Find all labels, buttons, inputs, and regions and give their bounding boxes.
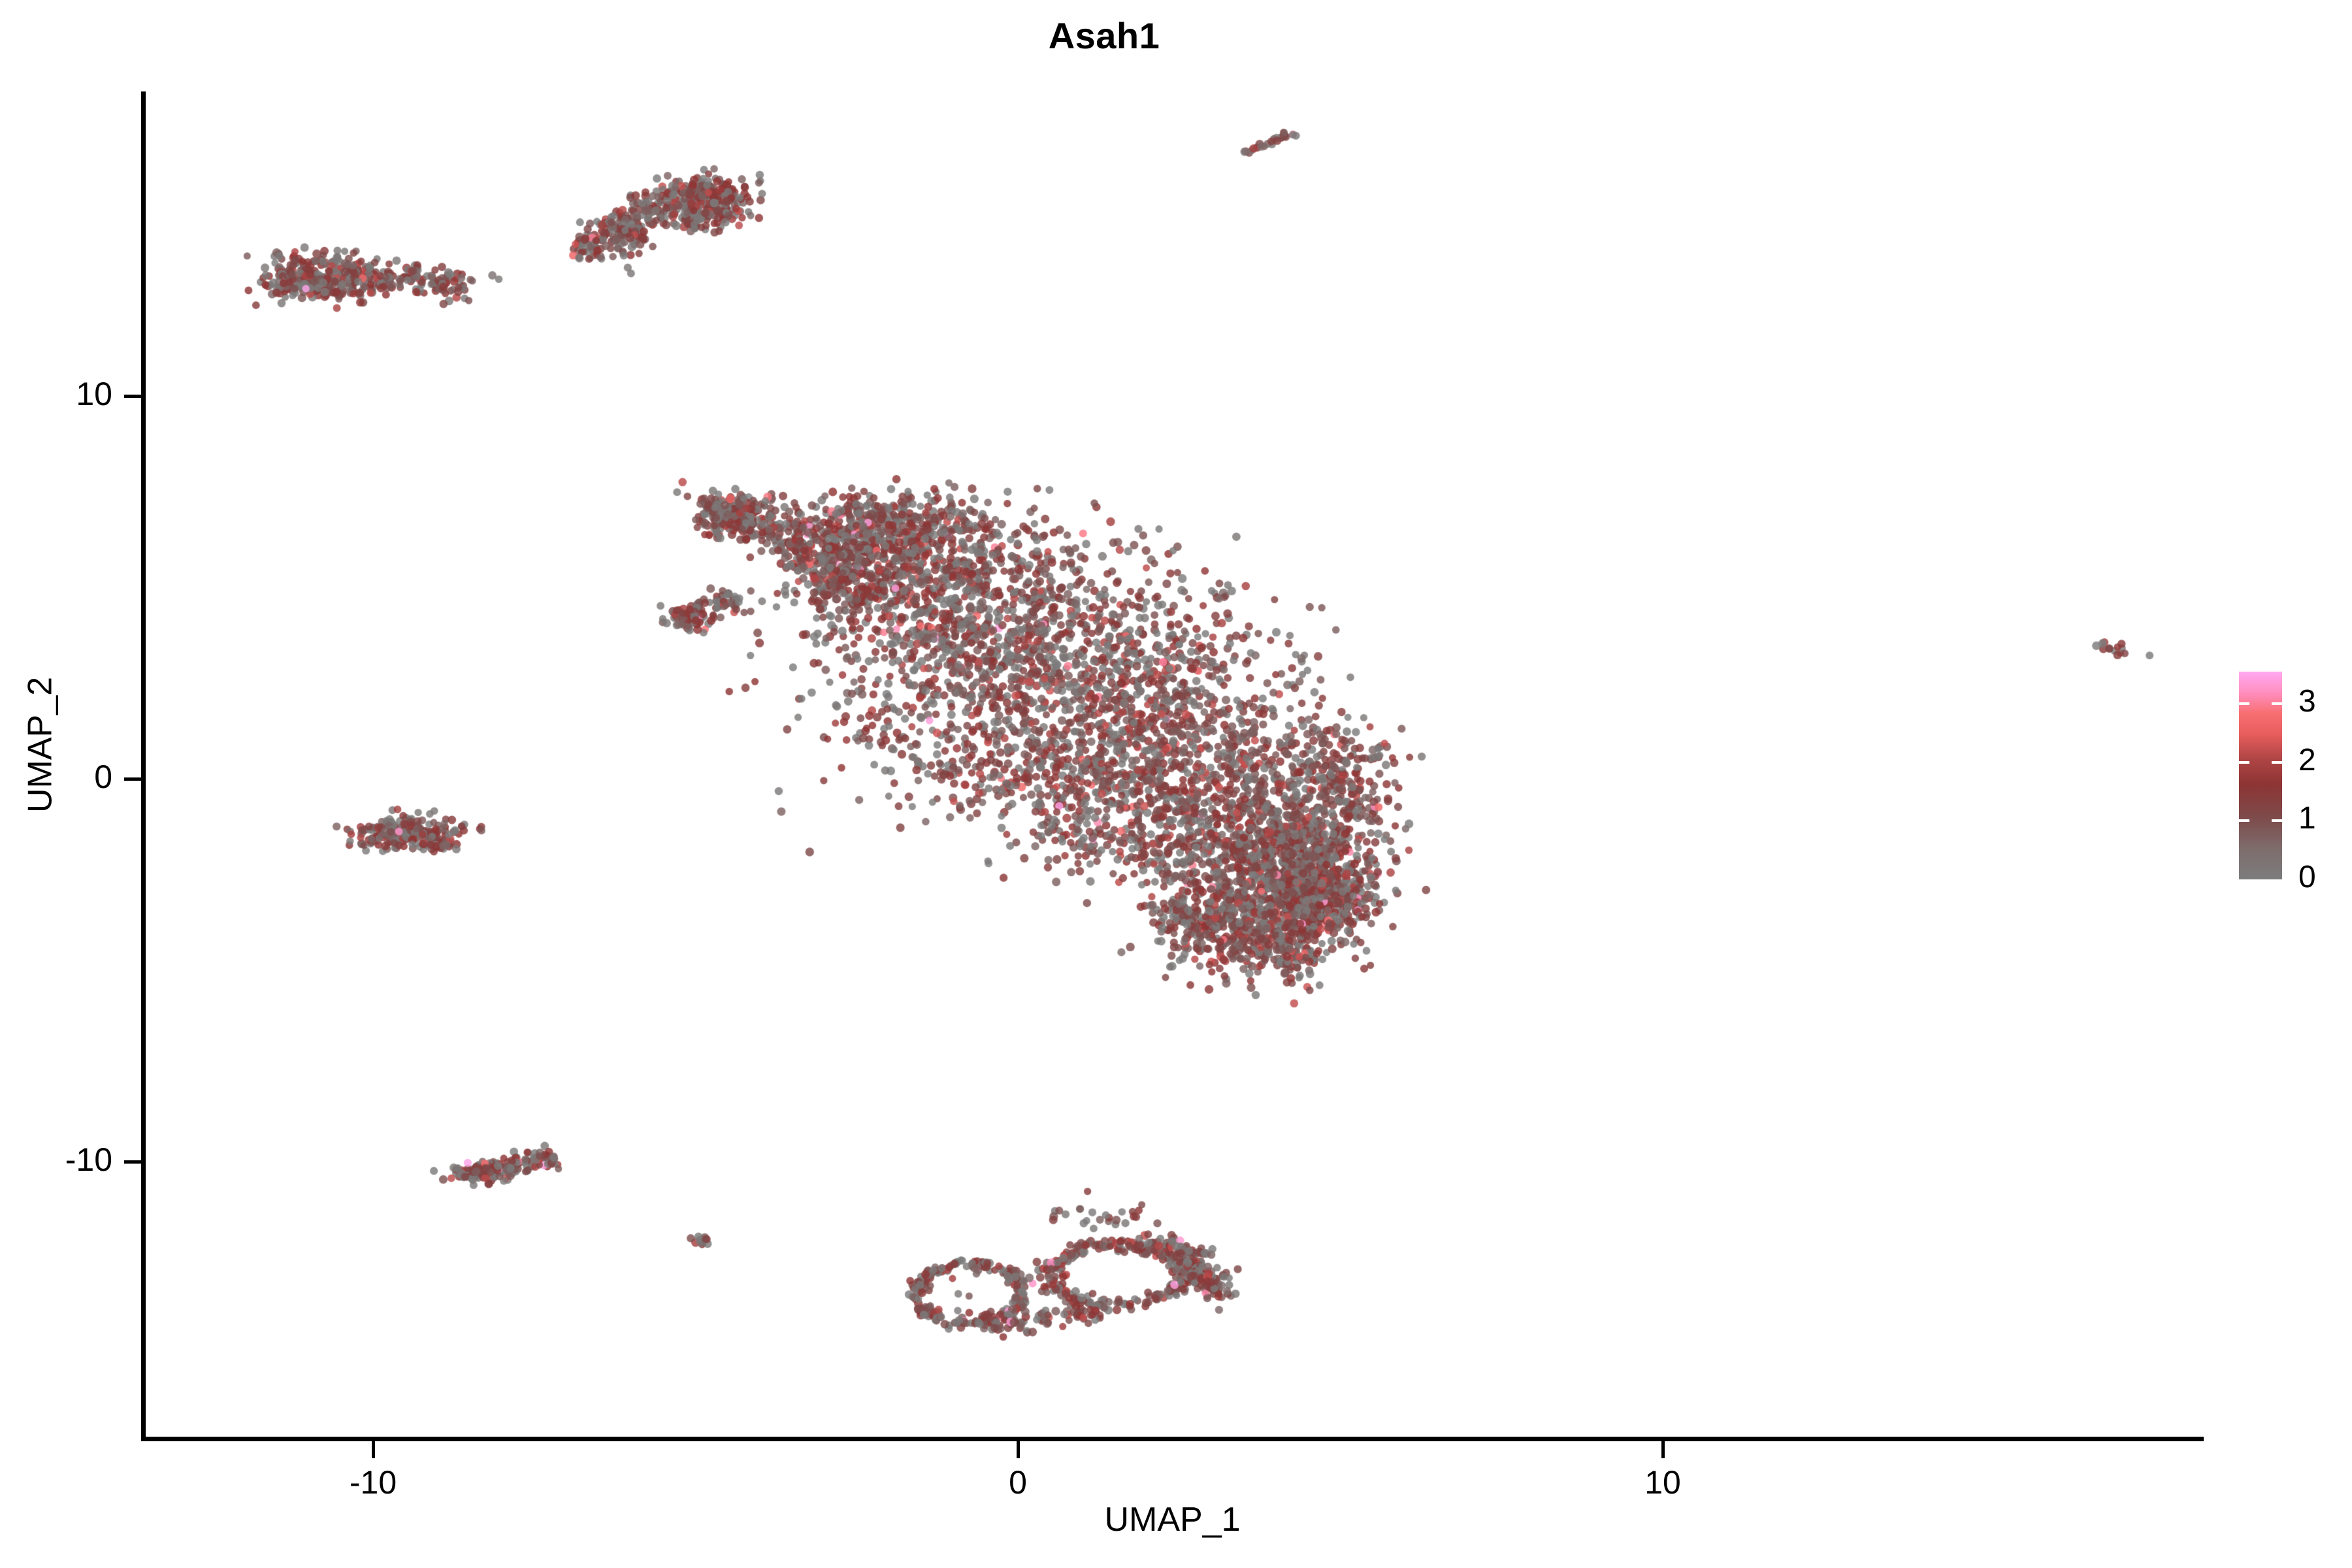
x-axis-line (141, 1437, 2204, 1441)
colorbar-legend: 3210 (2234, 663, 2339, 892)
colorbar-tick-label: 0 (2298, 859, 2316, 895)
y-axis-label: UMAP_2 (22, 677, 59, 813)
y-tick-mark (124, 395, 141, 398)
x-tick-mark (372, 1441, 375, 1458)
colorbar-tick-mark (2272, 761, 2282, 764)
x-tick-mark (1017, 1441, 1020, 1458)
colorbar-tick-mark (2272, 702, 2282, 705)
colorbar-tick-label: 1 (2298, 800, 2316, 836)
plot-panel (144, 91, 2203, 1439)
x-axis-label: UMAP_1 (141, 1500, 2204, 1539)
y-axis-line (141, 91, 146, 1441)
colorbar-tick-label: 3 (2298, 683, 2316, 719)
colorbar-tick-mark (2272, 819, 2282, 822)
colorbar-tick-mark (2239, 702, 2249, 705)
colorbar-tick-mark (2239, 819, 2249, 822)
umap-feature-plot: Asah1 -10010 100-10 UMAP_1 UMAP_2 3210 (0, 0, 2352, 1568)
colorbar-tick-label: 2 (2298, 742, 2316, 778)
x-tick-mark (1661, 1441, 1665, 1458)
x-tick-label: 10 (1597, 1463, 1728, 1501)
x-tick-label: 0 (953, 1463, 1083, 1501)
page-title: Asah1 (0, 14, 2208, 57)
y-tick-mark (124, 777, 141, 781)
colorbar-tick-mark (2239, 761, 2249, 764)
y-tick-mark (124, 1160, 141, 1164)
x-tick-label: -10 (308, 1463, 438, 1501)
y-axis-label-wrap: UMAP_2 (21, 71, 60, 1419)
